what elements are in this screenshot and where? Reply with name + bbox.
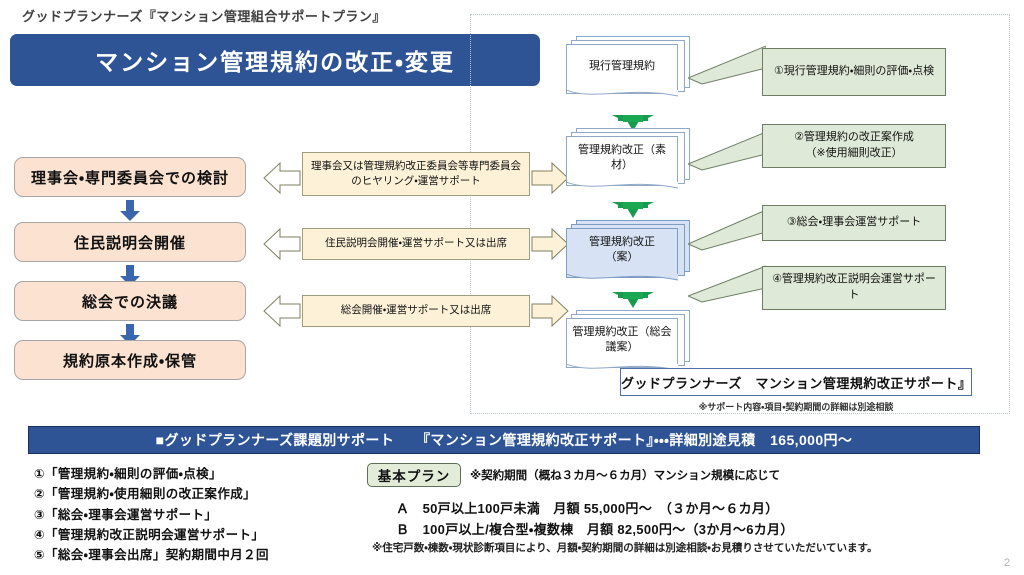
document-wave-icon: [566, 274, 678, 286]
connector-2: [688, 128, 766, 172]
support-box-1[interactable]: 理事会又は管理規約改正委員会等専門委員会のヒヤリング・運営サポート: [302, 152, 530, 196]
chevron-left-icon: [262, 293, 302, 334]
down-arrow-green-icon: [612, 290, 654, 310]
plan-row-b: Ｂ 100戸以上/複合型・複数棟 月額 82,500円～（3か月～6カ月）: [396, 519, 794, 538]
document-3[interactable]: 管理規約改正 （案）: [566, 228, 688, 280]
page-title-bar: マンション管理規約の改正・変更: [10, 34, 540, 86]
list-item: ④「管理規約改正説明会運営サポート」: [34, 525, 344, 545]
document-wave-icon: [566, 90, 678, 102]
callout-3-label: ③総会・理事会運営サポート: [787, 215, 922, 231]
support-box-1-label: 理事会又は管理規約改正委員会等専門委員会のヒヤリング・運営サポート: [309, 159, 523, 189]
list-item: ①「管理規約・細則の評価・点検」: [34, 464, 344, 484]
flow-step-2-label: 住民説明会開催: [74, 232, 186, 253]
document-2[interactable]: 管理規約改正（素材）: [566, 136, 688, 188]
flow-step-1[interactable]: 理事会・専門委員会での検討: [14, 157, 246, 197]
connector-4: [688, 260, 766, 306]
down-arrow-icon: [117, 200, 143, 222]
plan-footnote: ※住宅戸数・棟数・現状診断項目により、月額・契約期間の詳細は別途相談・お見積りさ…: [372, 540, 878, 555]
pricing-banner-text: ■グッドプランナーズ課題別サポート 『マンション管理規約改正サポート』・・・詳細…: [156, 430, 853, 450]
support-box-2-label: 住民説明会開催・運営サポート又は出席: [325, 236, 507, 251]
support-box-2[interactable]: 住民説明会開催・運営サポート又は出席: [302, 228, 530, 260]
document-2-label: 管理規約改正（素材）: [572, 143, 672, 173]
support-box-3[interactable]: 総会開催・運営サポート又は出席: [302, 295, 530, 327]
document-4[interactable]: 管理規約改正（総会議案）: [566, 318, 688, 370]
list-item: ⑤「総会・理事会出席」契約期間中月２回: [34, 545, 344, 565]
document-1[interactable]: 現行管理規約: [566, 44, 688, 96]
plan-contract-note: ※契約期間（概ね３カ月～６カ月）マンション規模に応じて: [470, 467, 780, 483]
document-3-front: 管理規約改正 （案）: [566, 228, 678, 278]
page-title: マンション管理規約の改正・変更: [95, 43, 455, 77]
chevron-right-icon: [530, 293, 570, 334]
callout-4[interactable]: ④管理規約改正説明会運営サポート: [762, 266, 946, 310]
page-number: 2: [1004, 557, 1010, 569]
flow-step-3-label: 総会での決議: [82, 291, 178, 312]
document-4-label: 管理規約改正（総会議案）: [572, 325, 672, 355]
flow-step-4-label: 規約原本作成・保管: [63, 350, 197, 371]
callout-3[interactable]: ③総会・理事会運営サポート: [762, 205, 946, 241]
service-list: ①「管理規約・細則の評価・点検」 ②「管理規約・使用細則の改正案作成」 ③「総会…: [34, 464, 344, 565]
document-3-label: 管理規約改正 （案）: [589, 235, 655, 265]
callout-4-label: ④管理規約改正説明会運営サポート: [770, 272, 938, 304]
support-summary-box[interactable]: グッドプランナーズ マンション管理規約改正サポート』: [620, 368, 972, 396]
plan-row-a: Ａ 50戸以上100戸未満 月額 55,000円～ （３か月～６カ月）: [396, 498, 779, 517]
brand-line: グッドプランナーズ『マンション管理組合サポートプラン』: [22, 6, 386, 25]
pricing-banner: ■グッドプランナーズ課題別サポート 『マンション管理規約改正サポート』・・・詳細…: [28, 426, 980, 454]
flow-step-2[interactable]: 住民説明会開催: [14, 222, 246, 262]
basic-plan-badge-label: 基本プラン: [378, 465, 451, 485]
list-item: ③「総会・理事会運営サポート」: [34, 505, 344, 525]
connector-3: [688, 206, 766, 252]
document-2-front: 管理規約改正（素材）: [566, 136, 678, 186]
chevron-right-icon: [530, 226, 570, 267]
callout-1-label: ①現行管理規約・細則の評価・点検: [774, 64, 934, 80]
flow-step-4[interactable]: 規約原本作成・保管: [14, 340, 246, 380]
flow-step-3[interactable]: 総会での決議: [14, 281, 246, 321]
down-arrow-green-icon: [612, 200, 654, 220]
document-1-front: 現行管理規約: [566, 44, 678, 94]
support-box-3-label: 総会開催・運営サポート又は出席: [341, 303, 492, 318]
chevron-right-icon: [530, 160, 570, 201]
chevron-left-icon: [262, 160, 302, 201]
chevron-left-icon: [262, 226, 302, 267]
support-summary-note: ※サポート内容・項目・契約期間の詳細は別途相談: [620, 400, 972, 413]
support-summary-title: グッドプランナーズ マンション管理規約改正サポート』: [621, 373, 971, 392]
document-wave-icon: [566, 182, 678, 194]
list-item: ②「管理規約・使用細則の改正案作成」: [34, 484, 344, 504]
connector-1: [688, 44, 766, 88]
callout-2-label: ②管理規約の改正案作成 （※使用細則改正）: [794, 130, 914, 162]
callout-2[interactable]: ②管理規約の改正案作成 （※使用細則改正）: [762, 124, 946, 168]
flow-step-1-label: 理事会・専門委員会での検討: [31, 167, 229, 188]
basic-plan-badge[interactable]: 基本プラン: [367, 463, 461, 487]
document-1-label: 現行管理規約: [589, 59, 655, 74]
document-4-front: 管理規約改正（総会議案）: [566, 318, 678, 368]
callout-1[interactable]: ①現行管理規約・細則の評価・点検: [762, 48, 946, 96]
